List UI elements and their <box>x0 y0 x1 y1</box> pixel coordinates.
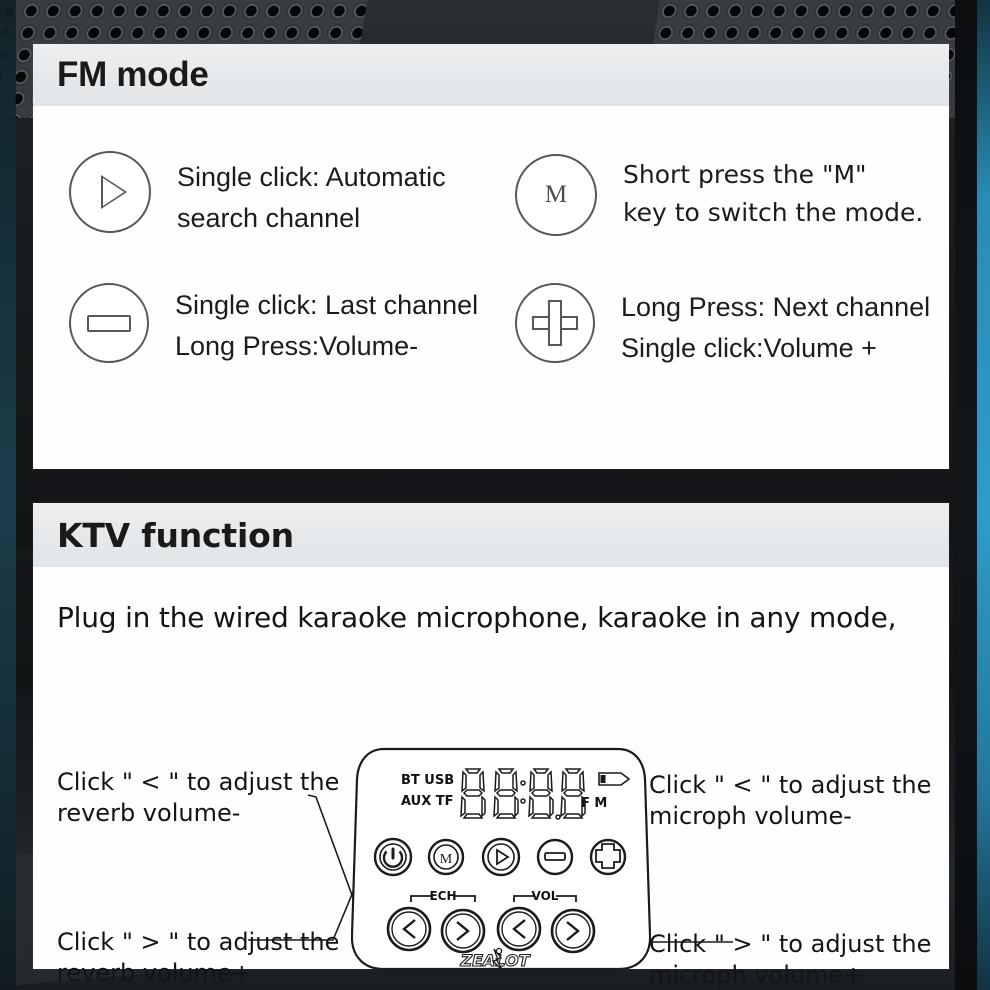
brand-logo: ZEALOT <box>459 949 530 971</box>
ech-next-button <box>442 910 484 952</box>
fm-item-mode-text: Short press the "M" key to switch the mo… <box>623 154 923 232</box>
ktv-function-title: KTV function <box>33 516 294 555</box>
fm-item-minus: Single click: Last channel Long Press:Vo… <box>69 283 478 367</box>
label-ech: ECH <box>429 889 456 903</box>
fm-item-plus-text: Long Press: Next channel Single click:Vo… <box>621 283 930 369</box>
minus-icon <box>69 283 149 363</box>
callout-reverb-minus-line2: reverb volume- <box>57 798 339 829</box>
fm-mode-card: FM mode Single click: Automatic search c… <box>33 44 949 469</box>
fm-mode-body: Single click: Automatic search channel M… <box>33 106 949 469</box>
callout-microphone-minus: Click " < " to adjust the microph volume… <box>649 770 931 831</box>
callout-reverb-minus: Click " < " to adjust the reverb volume- <box>57 767 339 828</box>
ktv-function-card: KTV function Plug in the wired karaoke m… <box>33 503 949 969</box>
display-label-bt-usb: BT USB <box>401 773 454 788</box>
fm-item-mode: M Short press the "M" key to switch the … <box>515 154 923 236</box>
fm-item-play-line1: Single click: Automatic <box>177 157 446 198</box>
callout-microphone-plus-line1: Click " > " to adjust the <box>649 929 931 960</box>
callout-reverb-minus-line1: Click " < " to adjust the <box>57 767 339 798</box>
fm-item-minus-line2: Long Press:Volume- <box>175 326 478 367</box>
ktv-function-header: KTV function <box>33 503 949 567</box>
fm-item-play-line2: search channel <box>177 198 446 239</box>
fm-mode-header: FM mode <box>33 44 949 106</box>
ech-prev-button <box>388 908 430 950</box>
display-label-aux-tf: AUX TF <box>401 794 454 809</box>
callout-microphone-minus-line2: microph volume- <box>649 801 931 832</box>
fm-item-mode-line2: key to switch the mode. <box>623 194 923 232</box>
callout-microphone-plus: Click " > " to adjust the microph volume… <box>649 929 931 990</box>
callout-reverb-plus: Click " > " to adjust the reverb volume+ <box>57 927 339 988</box>
callout-reverb-plus-line1: Click " > " to adjust the <box>57 927 339 958</box>
fm-item-play: Single click: Automatic search channel <box>69 151 446 239</box>
ktv-function-body: Plug in the wired karaoke microphone, ka… <box>33 567 949 969</box>
plus-button <box>591 840 625 874</box>
fm-item-plus: Long Press: Next channel Single click:Vo… <box>515 283 930 369</box>
minus-button <box>538 840 572 874</box>
mode-m-icon: M <box>515 154 597 236</box>
play-button <box>483 839 519 875</box>
callout-microphone-plus-line2: microph volume+ <box>649 960 931 990</box>
fm-item-minus-text: Single click: Last channel Long Press:Vo… <box>175 283 478 367</box>
play-icon <box>69 151 151 233</box>
background-left-edge <box>0 0 16 990</box>
svg-text:M: M <box>440 852 453 867</box>
ktv-intro-text: Plug in the wired karaoke microphone, ka… <box>57 601 896 634</box>
fm-item-plus-line2: Single click:Volume + <box>621 328 930 369</box>
mode-button: M <box>429 840 463 874</box>
background-right-accent-stripe <box>977 0 990 990</box>
callout-reverb-plus-line2: reverb volume+ <box>57 958 339 989</box>
fm-item-plus-line1: Long Press: Next channel <box>621 287 930 328</box>
device-control-panel-illustration: BT USB AUX TF F M <box>351 739 651 979</box>
fm-item-minus-line1: Single click: Last channel <box>175 285 478 326</box>
callout-microphone-minus-line1: Click " < " to adjust the <box>649 770 931 801</box>
fm-item-play-text: Single click: Automatic search channel <box>177 151 446 239</box>
label-vol: VOL <box>532 889 559 903</box>
vol-prev-button <box>498 908 540 950</box>
background-right-dark-edge <box>955 0 977 990</box>
fm-mode-title: FM mode <box>33 55 209 95</box>
power-button <box>375 839 411 875</box>
plus-icon <box>515 283 595 363</box>
mode-m-letter: M <box>545 181 567 209</box>
vol-next-button <box>552 910 594 952</box>
fm-item-mode-line1: Short press the "M" <box>623 156 923 194</box>
